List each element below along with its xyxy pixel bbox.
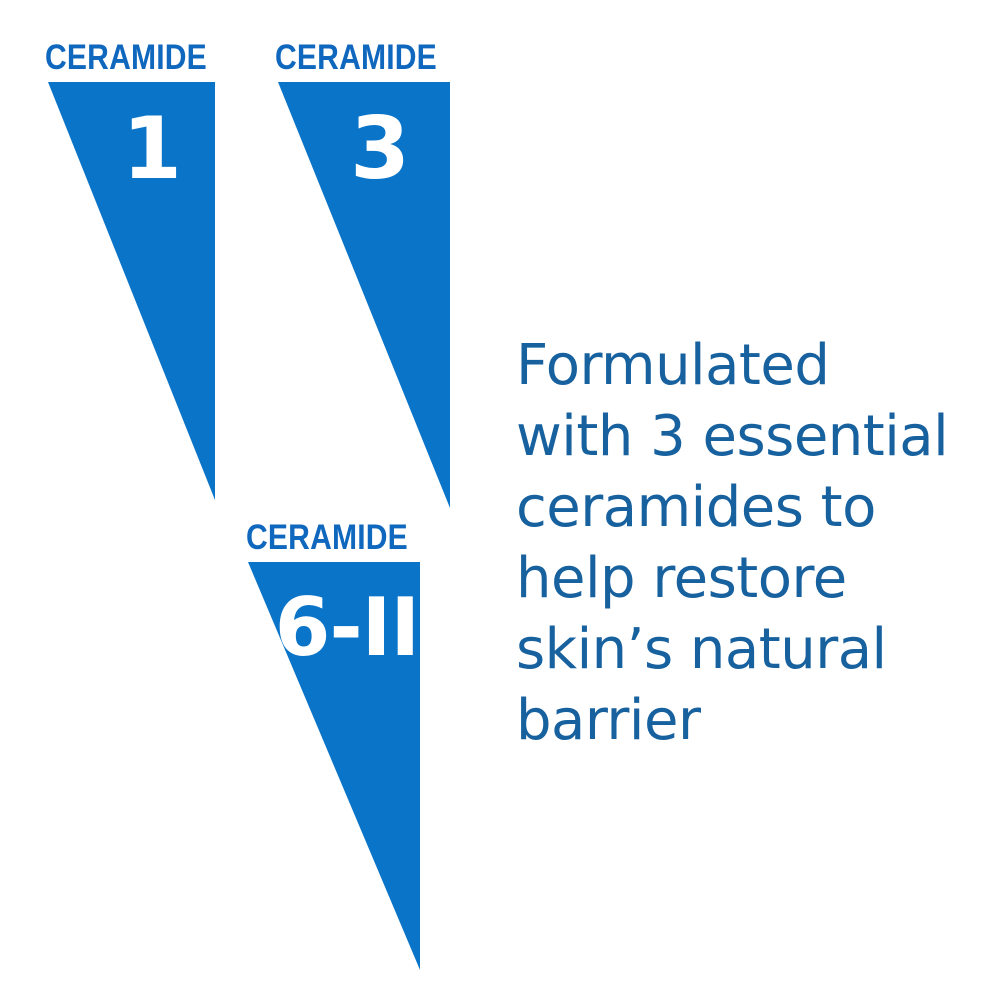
ceramide-6-ii-number: 6-II (272, 588, 422, 668)
ceramide-3-label: CERAMIDE (275, 40, 437, 75)
ceramide-1-label: CERAMIDE (45, 40, 207, 75)
ceramide-6-ii-label: CERAMIDE (246, 520, 408, 555)
body-copy-text: Formulated with 3 essential ceramides to… (516, 330, 956, 756)
ceramide-3-number: 3 (338, 106, 422, 192)
ceramide-1-number: 1 (110, 106, 194, 192)
ceramide-infographic: CERAMIDE 1 CERAMIDE 3 CERAMIDE 6-II Form… (0, 0, 1000, 1000)
